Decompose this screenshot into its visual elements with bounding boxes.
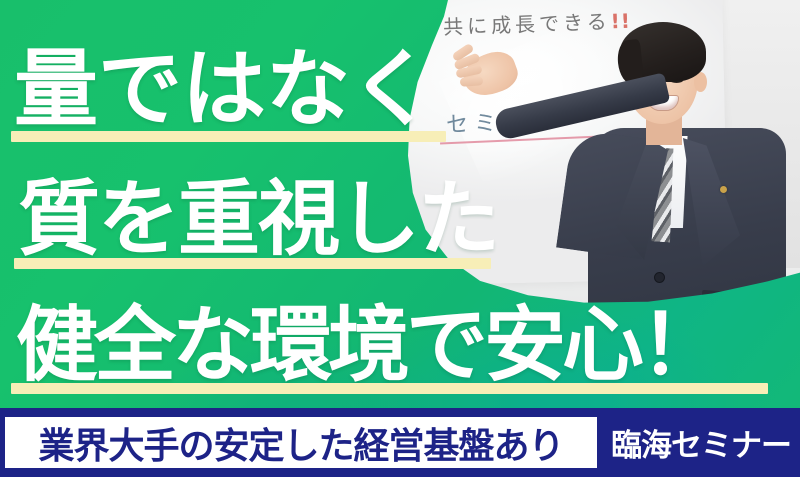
headline-line-2: 質を重視した [18,152,498,271]
footer-tagline-box: 業界大手の安定した経営基盤あり [5,417,597,468]
headline-line-1: 量ではなく [14,22,434,143]
footer-brand-logo: 臨海セミナー [608,417,794,468]
headline-underline-1 [11,131,446,142]
headline-underline-2 [14,258,491,269]
headline-line-3: 健全な環境で安心！ [16,278,718,397]
headline-block: 量ではなく 質を重視した 健全な環境で安心！ [0,0,800,410]
headline-underline-3 [11,383,768,394]
recruitment-banner: 共に成長できる!! セミナー [0,0,800,477]
footer-tagline: 業界大手の安定した経営基盤あり [5,417,597,468]
footer-bar: 業界大手の安定した経営基盤あり 臨海セミナー [0,408,800,477]
